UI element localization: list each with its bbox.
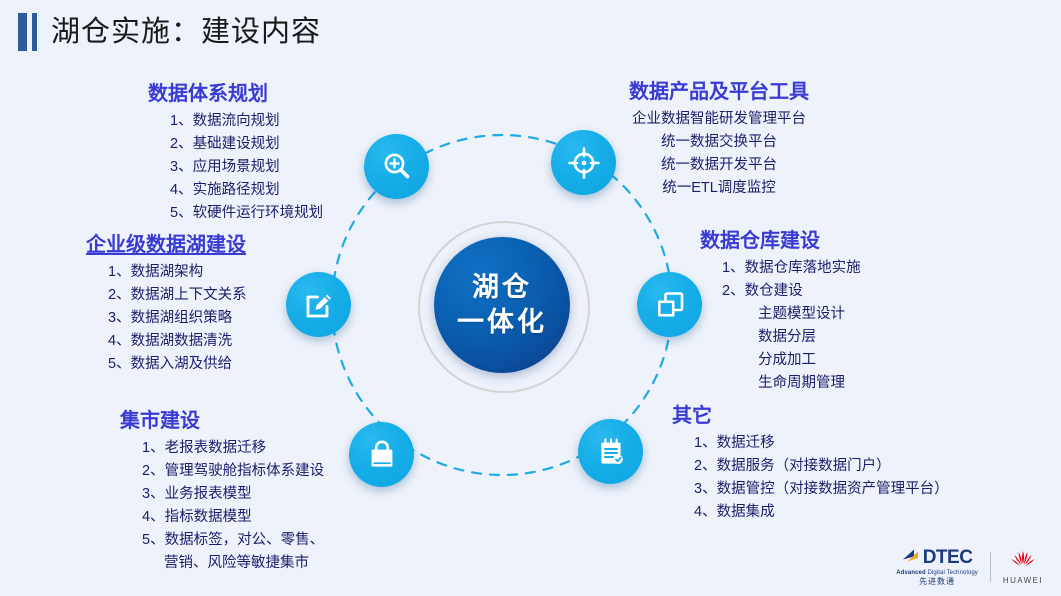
- center-hub-circle: 湖仓 一体化: [434, 237, 570, 373]
- node-datalake[interactable]: [286, 272, 351, 337]
- list-item: 1、数据流向规划: [170, 110, 323, 133]
- edit-square-icon: [302, 288, 336, 322]
- list-item: 统一数据交换平台: [600, 131, 838, 154]
- list-item: 2、数仓建设: [722, 280, 861, 303]
- dtec-tagline: Advanced Digital Technology: [896, 570, 978, 576]
- block-mart-title: 集市建设: [120, 409, 324, 434]
- list-item: 1、数据迁移: [694, 432, 949, 455]
- huawei-logo: HUAWEI: [1003, 549, 1043, 585]
- center-hub-line-2: 一体化: [457, 305, 547, 340]
- list-item: 5、数据入湖及供给: [108, 353, 247, 376]
- list-item: 1、数据湖架构: [108, 261, 247, 284]
- node-mart[interactable]: [349, 422, 414, 487]
- list-item: 3、业务报表模型: [142, 483, 324, 506]
- list-item: 4、数据集成: [694, 501, 949, 524]
- block-product-list: 企业数据智能研发管理平台 统一数据交换平台 统一数据开发平台 统一ETL调度监控: [600, 108, 838, 200]
- dtec-logo: DTEC Advanced Digital Technology 先进数通: [896, 547, 978, 586]
- block-product-title: 数据产品及平台工具: [600, 80, 838, 105]
- block-product: 数据产品及平台工具 企业数据智能研发管理平台 统一数据交换平台 统一数据开发平台…: [600, 80, 838, 200]
- list-item: 2、数据湖上下文关系: [108, 284, 247, 307]
- block-planning: 数据体系规划 1、数据流向规划 2、基础建设规划 3、应用场景规划 4、实施路径…: [148, 82, 323, 225]
- list-item: 数据分层: [722, 326, 861, 349]
- dtec-wordmark: DTEC: [923, 548, 973, 567]
- list-item: 4、数据湖数据清洗: [108, 330, 247, 353]
- list-item: 2、数据服务（对接数据门户）: [694, 455, 949, 478]
- block-other-title: 其它: [672, 404, 949, 429]
- block-datalake: 企业级数据湖建设 1、数据湖架构 2、数据湖上下文关系 3、数据湖组织策略 4、…: [86, 233, 247, 376]
- node-other[interactable]: [578, 419, 643, 484]
- center-hub-line-1: 湖仓: [472, 270, 532, 305]
- list-item: 1、老报表数据迁移: [142, 437, 324, 460]
- search-plus-icon: [380, 150, 414, 184]
- huawei-petal-icon: [1008, 549, 1038, 575]
- block-datalake-title: 企业级数据湖建设: [86, 233, 247, 258]
- list-item: 1、数据仓库落地实施: [722, 257, 861, 280]
- block-warehouse-title: 数据仓库建设: [700, 229, 861, 254]
- footer-logos: DTEC Advanced Digital Technology 先进数通 HU…: [896, 547, 1043, 586]
- list-item: 企业数据智能研发管理平台: [600, 108, 838, 131]
- block-warehouse: 数据仓库建设 1、数据仓库落地实施 2、数仓建设 主题模型设计 数据分层 分成加…: [700, 229, 861, 394]
- list-item: 分成加工: [722, 349, 861, 372]
- target-icon: [567, 146, 601, 180]
- dtec-tagline-rest: Digital Technology: [926, 570, 978, 576]
- block-other: 其它 1、数据迁移 2、数据服务（对接数据门户） 3、数据管控（对接数据资产管理…: [672, 404, 949, 524]
- list-item: 4、指标数据模型: [142, 506, 324, 529]
- list-item: 统一ETL调度监控: [600, 177, 838, 200]
- list-item: 3、应用场景规划: [170, 156, 323, 179]
- dtec-mark-icon: [902, 547, 922, 568]
- block-other-list: 1、数据迁移 2、数据服务（对接数据门户） 3、数据管控（对接数据资产管理平台）…: [672, 432, 949, 524]
- list-item: 4、实施路径规划: [170, 179, 323, 202]
- block-planning-list: 1、数据流向规划 2、基础建设规划 3、应用场景规划 4、实施路径规划 5、软硬…: [148, 110, 323, 225]
- list-item: 主题模型设计: [722, 303, 861, 326]
- copy-layers-icon: [653, 288, 687, 322]
- dtec-chinese-name: 先进数通: [919, 578, 955, 586]
- notepad-check-icon: [594, 435, 628, 469]
- block-mart-list: 1、老报表数据迁移 2、管理驾驶舱指标体系建设 3、业务报表模型 4、指标数据模…: [120, 437, 324, 574]
- list-item: 2、管理驾驶舱指标体系建设: [142, 460, 324, 483]
- list-item: 5、数据标签，对公、零售、: [142, 529, 324, 552]
- block-warehouse-list: 1、数据仓库落地实施 2、数仓建设 主题模型设计 数据分层 分成加工 生命周期管…: [700, 257, 861, 394]
- list-item: 3、数据湖组织策略: [108, 307, 247, 330]
- block-datalake-list: 1、数据湖架构 2、数据湖上下文关系 3、数据湖组织策略 4、数据湖数据清洗 5…: [86, 261, 247, 376]
- title-accent-bars: [18, 13, 37, 51]
- list-item: 生命周期管理: [722, 372, 861, 395]
- list-item: 营销、风险等敏捷集市: [142, 552, 324, 575]
- logo-divider: [990, 552, 991, 582]
- shopping-bag-icon: [365, 438, 399, 472]
- block-mart: 集市建设 1、老报表数据迁移 2、管理驾驶舱指标体系建设 3、业务报表模型 4、…: [120, 409, 324, 574]
- block-planning-title: 数据体系规划: [148, 82, 323, 107]
- huawei-wordmark: HUAWEI: [1003, 577, 1043, 585]
- list-item: 3、数据管控（对接数据资产管理平台）: [694, 478, 949, 501]
- dtec-tagline-bold: Advanced: [896, 570, 925, 576]
- list-item: 2、基础建设规划: [170, 133, 323, 156]
- node-planning[interactable]: [364, 134, 429, 199]
- list-item: 5、软硬件运行环境规划: [170, 202, 323, 225]
- list-item: 统一数据开发平台: [600, 154, 838, 177]
- node-warehouse[interactable]: [637, 272, 702, 337]
- slide-header: 湖仓实施：建设内容: [18, 13, 321, 51]
- page-title: 湖仓实施：建设内容: [51, 18, 321, 47]
